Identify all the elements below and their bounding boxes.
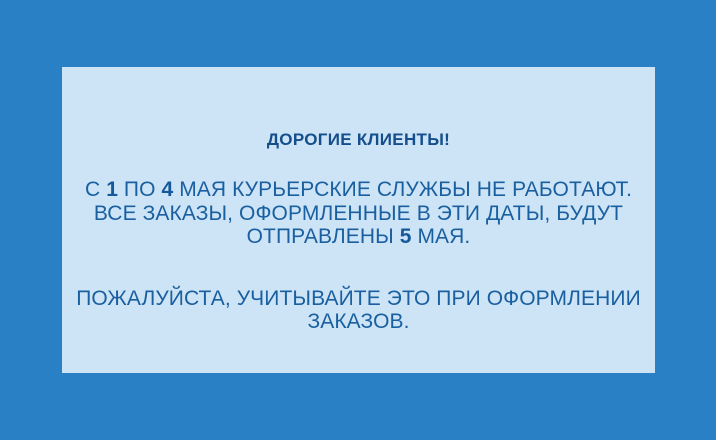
text-run: С <box>85 178 106 201</box>
announcement-banner: ДОРОГИЕ КЛИЕНТЫ! С 1 ПО 4 МАЯ КУРЬЕРСКИЕ… <box>0 0 716 440</box>
notice-text-line: ОТПРАВЛЕНЫ 5 МАЯ. <box>62 225 655 249</box>
notice-paragraph-please-note: ПОЖАЛУЙСТА, УЧИТЫВАЙТЕ ЭТО ПРИ ОФОРМЛЕНИ… <box>62 287 655 334</box>
notice-text-line: ВСЕ ЗАКАЗЫ, ОФОРМЛЕННЫЕ В ЭТИ ДАТЫ, БУДУ… <box>62 202 655 226</box>
text-run: МАЯ. <box>412 225 471 248</box>
emphasized-date: 5 <box>400 225 412 248</box>
notice-card: ДОРОГИЕ КЛИЕНТЫ! С 1 ПО 4 МАЯ КУРЬЕРСКИЕ… <box>62 67 655 373</box>
notice-text-line: С 1 ПО 4 МАЯ КУРЬЕРСКИЕ СЛУЖБЫ НЕ РАБОТА… <box>62 178 655 202</box>
notice-heading: ДОРОГИЕ КЛИЕНТЫ! <box>62 130 655 150</box>
notice-text-line: ПОЖАЛУЙСТА, УЧИТЫВАЙТЕ ЭТО ПРИ ОФОРМЛЕНИ… <box>62 287 655 311</box>
notice-text-line: ЗАКАЗОВ. <box>62 310 655 334</box>
text-run: ЗАКАЗОВ. <box>307 310 409 333</box>
emphasized-date: 4 <box>161 178 173 201</box>
text-run: МАЯ КУРЬЕРСКИЕ СЛУЖБЫ НЕ РАБОТАЮТ. <box>173 178 632 201</box>
notice-card-content: ДОРОГИЕ КЛИЕНТЫ! С 1 ПО 4 МАЯ КУРЬЕРСКИЕ… <box>62 67 655 334</box>
text-run: ВСЕ ЗАКАЗЫ, ОФОРМЛЕННЫЕ В ЭТИ ДАТЫ, БУДУ… <box>94 202 623 225</box>
emphasized-date: 1 <box>106 178 118 201</box>
text-run: ПОЖАЛУЙСТА, УЧИТЫВАЙТЕ ЭТО ПРИ ОФОРМЛЕНИ… <box>76 287 641 310</box>
notice-paragraph-schedule: С 1 ПО 4 МАЯ КУРЬЕРСКИЕ СЛУЖБЫ НЕ РАБОТА… <box>62 178 655 249</box>
text-run: ОТПРАВЛЕНЫ <box>247 225 400 248</box>
text-run: ПО <box>118 178 162 201</box>
